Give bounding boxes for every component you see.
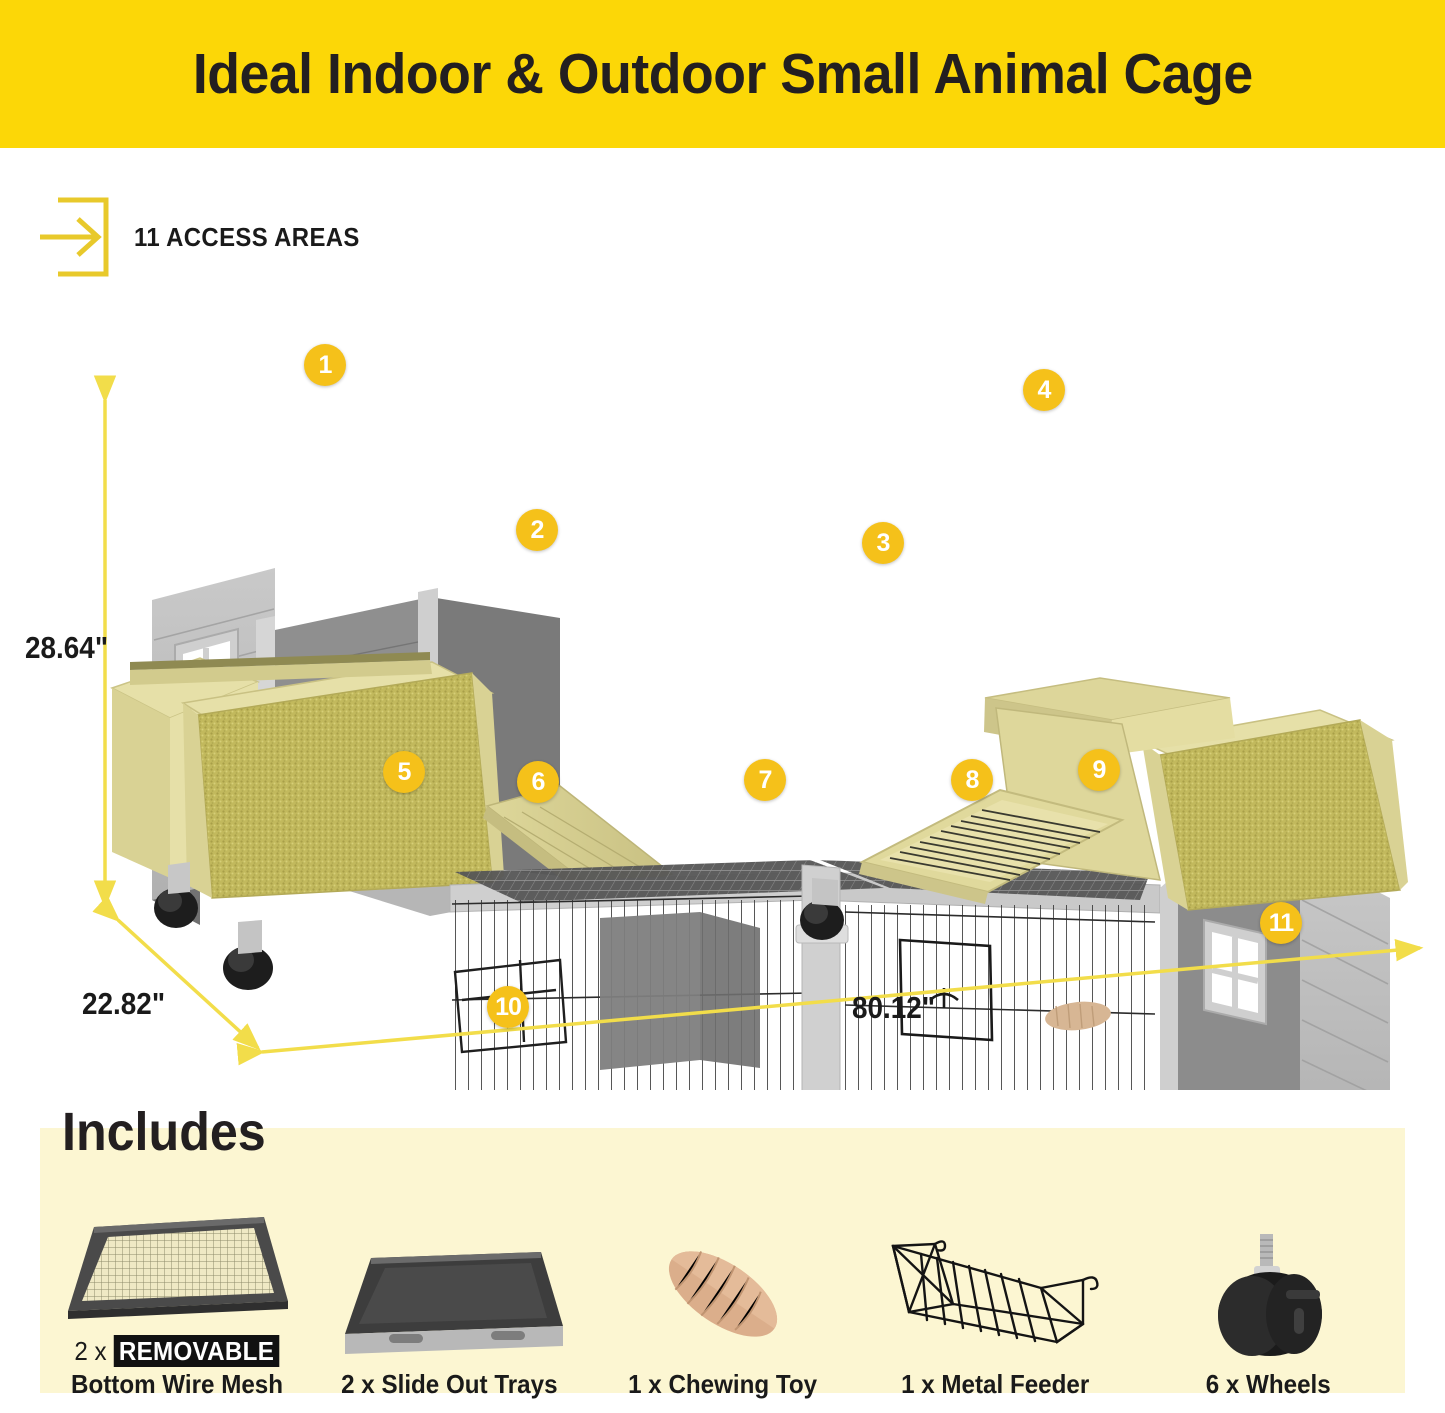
page-title: Ideal Indoor & Outdoor Small Animal Cage: [193, 46, 1253, 103]
wire-mesh-icon: [52, 1197, 302, 1325]
slide-out-tray-icon: [325, 1230, 575, 1358]
callout-badge-6[interactable]: 6: [517, 761, 559, 803]
dimension-depth-label: 22.82": [82, 986, 165, 1022]
callout-badge-11[interactable]: 11: [1260, 902, 1302, 944]
include-caption-line2: Bottom Wire Mesh: [70, 1370, 282, 1400]
access-areas-callout: 11 ACCESS AREAS: [40, 196, 379, 278]
header-banner: Ideal Indoor & Outdoor Small Animal Cage: [0, 0, 1445, 148]
include-caption-chewing-toy: 1 x Chewing Toy: [628, 1370, 817, 1400]
enter-arrow-icon: [40, 196, 112, 278]
callout-badge-8[interactable]: 8: [951, 759, 993, 801]
include-item-wire-mesh: 2 x REMOVABLE Bottom Wire Mesh: [40, 1170, 313, 1400]
access-areas-label: 11 ACCESS AREAS: [134, 222, 360, 253]
includes-items: 2 x REMOVABLE Bottom Wire Mesh 2 x Slide…: [40, 1170, 1405, 1400]
callout-badge-4[interactable]: 4: [1023, 369, 1065, 411]
callout-badge-2[interactable]: 2: [516, 509, 558, 551]
include-qty-wire-mesh: 2 x: [74, 1336, 113, 1366]
include-caption-wire-mesh: 2 x REMOVABLE Bottom Wire Mesh: [70, 1337, 282, 1400]
callout-badge-9[interactable]: 9: [1078, 749, 1120, 791]
dimension-height-label: 28.64": [25, 630, 108, 666]
include-caption-slide-tray: 2 x Slide Out Trays: [341, 1370, 557, 1400]
callout-badge-10[interactable]: 10: [487, 986, 529, 1028]
caster-wheel-icon: [1174, 1230, 1364, 1358]
include-item-chewing-toy: 1 x Chewing Toy: [586, 1170, 859, 1400]
include-caption-metal-feeder: 1 x Metal Feeder: [901, 1370, 1089, 1400]
callout-badge-7[interactable]: 7: [744, 759, 786, 801]
product-illustration: 28.64" 22.82" 80.12": [0, 300, 1445, 1090]
metal-feeder-icon: [871, 1230, 1121, 1358]
removable-badge: REMOVABLE: [113, 1335, 279, 1367]
dimension-width-label: 80.12": [852, 990, 935, 1026]
callout-badge-5[interactable]: 5: [383, 751, 425, 793]
dimension-arrows: [0, 300, 1445, 1090]
include-caption-wheels: 6 x Wheels: [1206, 1370, 1331, 1400]
chewing-toy-icon: [623, 1230, 823, 1358]
includes-title: Includes: [62, 1105, 266, 1159]
callout-badge-3[interactable]: 3: [862, 522, 904, 564]
callout-badge-1[interactable]: 1: [304, 344, 346, 386]
include-item-slide-tray: 2 x Slide Out Trays: [313, 1170, 586, 1400]
include-item-wheels: 6 x Wheels: [1132, 1170, 1405, 1400]
include-item-metal-feeder: 1 x Metal Feeder: [859, 1170, 1132, 1400]
